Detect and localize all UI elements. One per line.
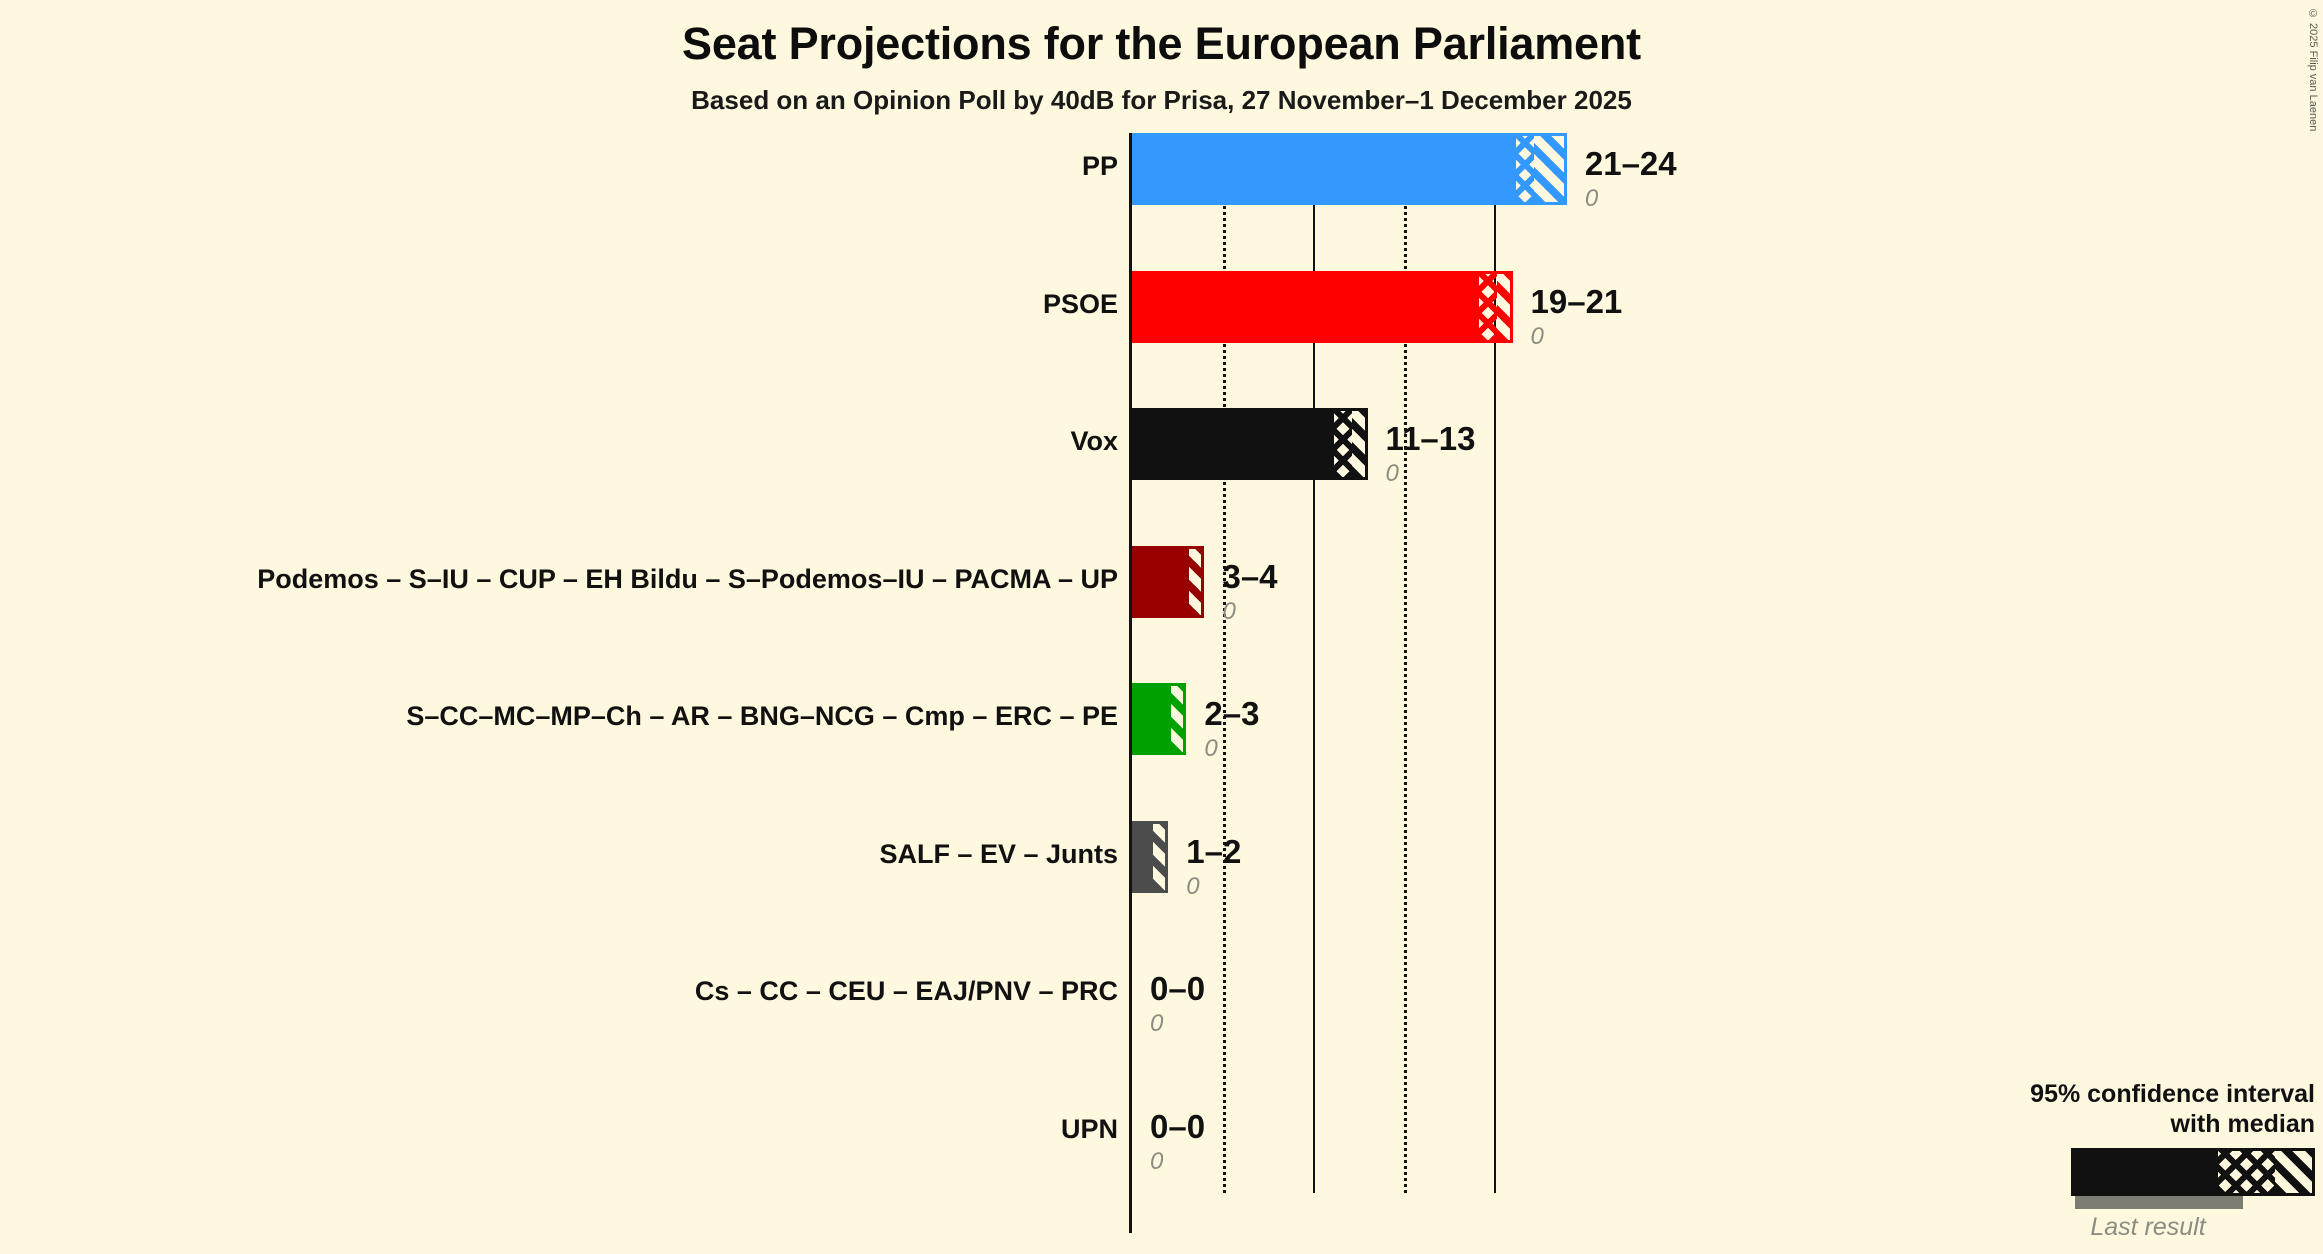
bar-row: PP21–240 xyxy=(0,133,2323,271)
party-label-salf: SALF – EV – Junts xyxy=(879,839,1118,870)
legend-line-1: 95% confidence interval xyxy=(2015,1080,2315,1110)
bar-segment-diagonal xyxy=(1352,411,1364,477)
legend: 95% confidence interval with median Last… xyxy=(2015,1080,2315,1242)
value-range-cs: 0–0 xyxy=(1150,970,1205,1008)
last-result-value-scc: 0 xyxy=(1204,735,1217,763)
seat-projection-chart: Seat Projections for the European Parlia… xyxy=(0,0,2323,1254)
party-label-vox: Vox xyxy=(1070,426,1118,457)
party-label-podemos: Podemos – S–IU – CUP – EH Bildu – S–Pode… xyxy=(257,564,1118,595)
last-result-value-salf: 0 xyxy=(1186,873,1199,901)
bar-row: S–CC–MC–MP–Ch – AR – BNG–NCG – Cmp – ERC… xyxy=(0,683,2323,821)
page-title: Seat Projections for the European Parlia… xyxy=(0,18,2323,70)
legend-line-2: with median xyxy=(2015,1110,2315,1140)
party-label-upn: UPN xyxy=(1061,1114,1118,1145)
value-range-vox: 11–13 xyxy=(1386,420,1476,458)
legend-sample-bar xyxy=(2071,1148,2315,1196)
legend-last-result-bar xyxy=(2075,1196,2243,1209)
chart-subtitle: Based on an Opinion Poll by 40dB for Pri… xyxy=(0,85,2323,116)
bar-segment-median-solid xyxy=(1135,549,1189,615)
value-range-upn: 0–0 xyxy=(1150,1108,1205,1146)
bar-row: UPN0–00 xyxy=(0,1096,2323,1234)
bar-segment-median-solid xyxy=(1135,686,1171,752)
copyright-notice: © 2025 Filip van Laenen xyxy=(2307,8,2319,131)
last-result-value-psoe: 0 xyxy=(1531,323,1544,351)
bar-podemos xyxy=(1132,546,1204,618)
bar-segment-diagonal xyxy=(1153,824,1165,890)
value-range-pp: 21–24 xyxy=(1585,145,1677,183)
party-label-pp: PP xyxy=(1082,151,1118,182)
bar-scc xyxy=(1132,683,1186,755)
party-label-psoe: PSOE xyxy=(1043,289,1118,320)
bar-row: Cs – CC – CEU – EAJ/PNV – PRC0–00 xyxy=(0,958,2323,1096)
bar-segment-diagonal xyxy=(1534,136,1564,202)
bar-segment-diagonal xyxy=(1189,549,1201,615)
party-label-cs: Cs – CC – CEU – EAJ/PNV – PRC xyxy=(695,976,1118,1007)
bar-row: PSOE19–210 xyxy=(0,271,2323,409)
bar-salf xyxy=(1132,821,1168,893)
legend-segment-diagonal xyxy=(2275,1151,2312,1193)
legend-segment-crosshatch xyxy=(2218,1151,2275,1193)
party-label-scc: S–CC–MC–MP–Ch – AR – BNG–NCG – Cmp – ERC… xyxy=(406,701,1118,732)
bar-segment-diagonal xyxy=(1497,274,1509,340)
value-range-psoe: 19–21 xyxy=(1531,283,1623,321)
last-result-value-cs: 0 xyxy=(1150,1010,1163,1038)
bar-row: SALF – EV – Junts1–20 xyxy=(0,821,2323,959)
bar-row: Podemos – S–IU – CUP – EH Bildu – S–Pode… xyxy=(0,546,2323,684)
bar-psoe xyxy=(1132,271,1513,343)
last-result-value-pp: 0 xyxy=(1585,185,1598,213)
value-range-scc: 2–3 xyxy=(1204,695,1259,733)
bar-segment-crosshatch xyxy=(1479,274,1497,340)
bar-segment-crosshatch xyxy=(1516,136,1534,202)
last-result-value-vox: 0 xyxy=(1386,460,1399,488)
bar-segment-median-solid xyxy=(1135,136,1516,202)
bar-segment-median-solid xyxy=(1135,274,1479,340)
bar-vox xyxy=(1132,408,1368,480)
bar-segment-crosshatch xyxy=(1334,411,1352,477)
bar-segment-median-solid xyxy=(1135,411,1334,477)
value-range-podemos: 3–4 xyxy=(1222,558,1277,596)
last-result-value-podemos: 0 xyxy=(1222,598,1235,626)
bar-segment-median-solid xyxy=(1135,824,1153,890)
value-range-salf: 1–2 xyxy=(1186,833,1241,871)
bar-row: Vox11–130 xyxy=(0,408,2323,546)
bar-pp xyxy=(1132,133,1567,205)
last-result-value-upn: 0 xyxy=(1150,1148,1163,1176)
legend-last-result-label: Last result xyxy=(2015,1213,2315,1242)
legend-segment-solid xyxy=(2074,1151,2218,1193)
bar-segment-diagonal xyxy=(1171,686,1183,752)
